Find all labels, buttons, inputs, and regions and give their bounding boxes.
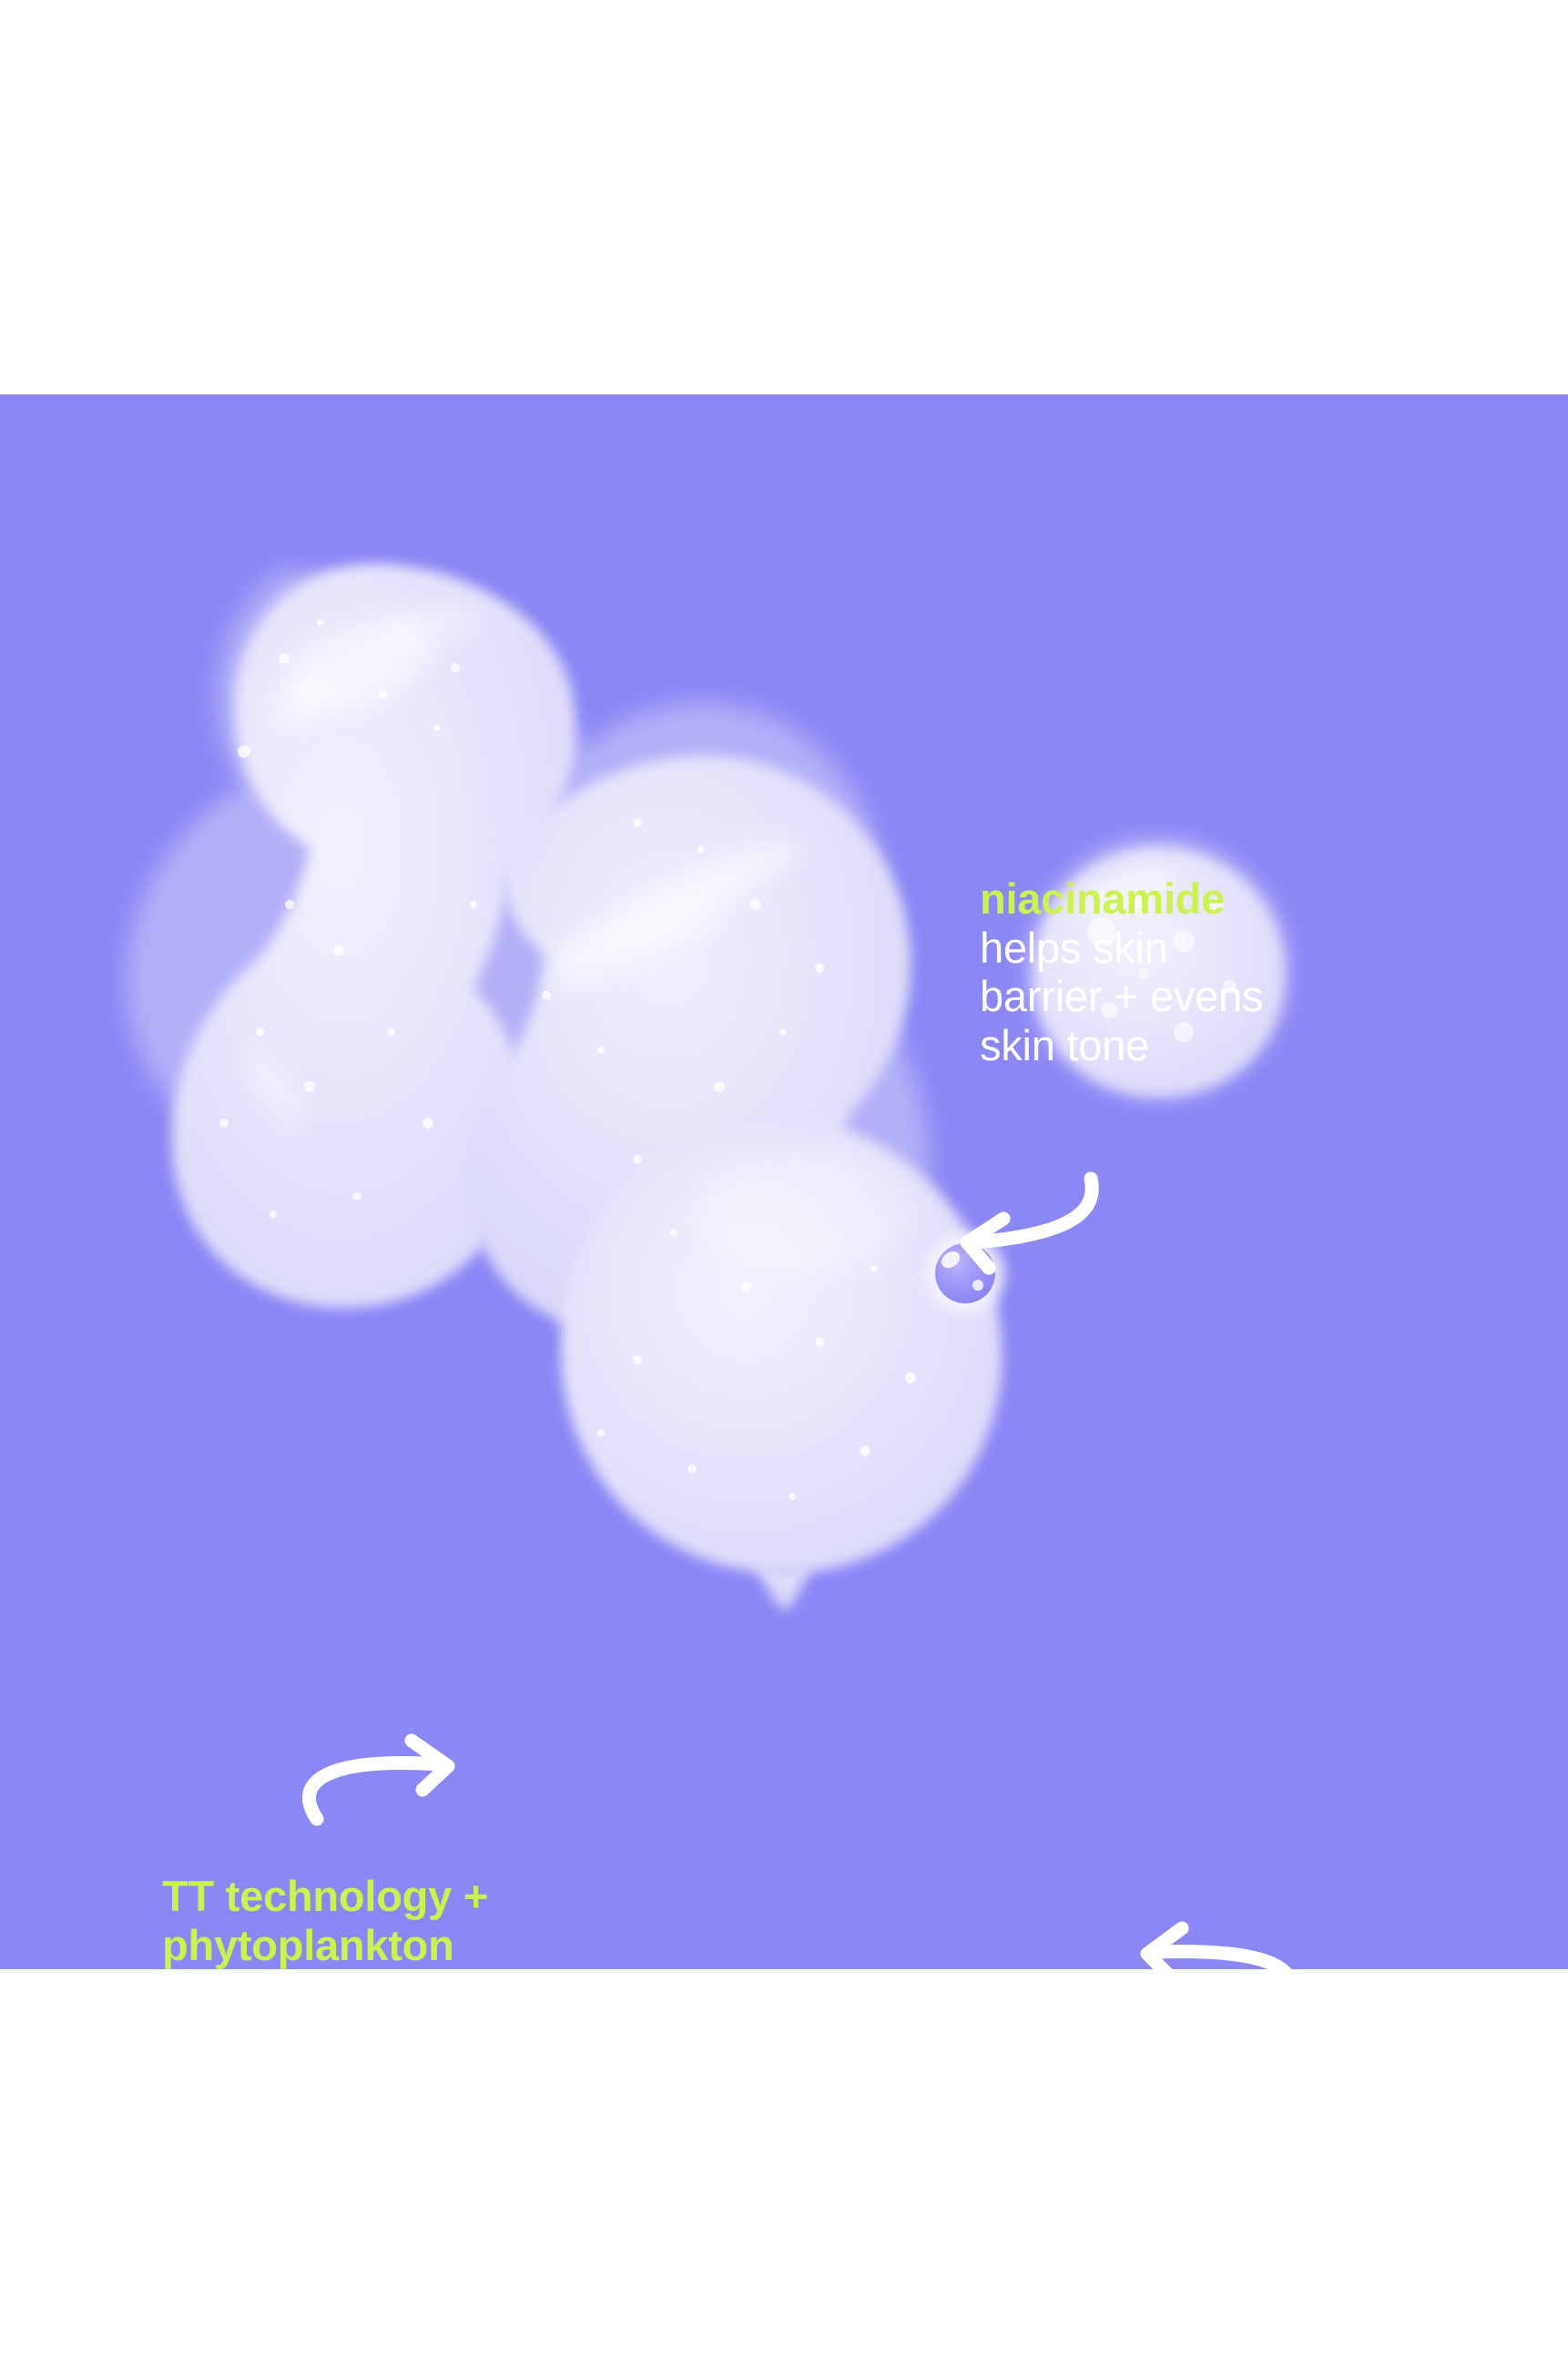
curved-arrow-left-icon bbox=[1118, 1905, 1319, 1969]
callout-niacinamide-line-2: barrier + evens bbox=[980, 972, 1408, 1021]
callout-niacinamide-line-3: skin tone bbox=[980, 1021, 1408, 1070]
callout-niacinamide: niacinamide helps skin barrier + evens s… bbox=[980, 874, 1408, 1069]
callout-tt-title-line-1: TT technology + bbox=[162, 1872, 636, 1921]
callout-tt-technology: TT technology + phytoplankton extract pr… bbox=[162, 1872, 636, 1969]
curved-arrow-left-icon bbox=[929, 1164, 1166, 1301]
callout-niacinamide-title: niacinamide bbox=[980, 874, 1408, 924]
product-image-panel: niacinamide helps skin barrier + evens s… bbox=[0, 394, 1568, 1969]
callout-tt-title-line-2: phytoplankton bbox=[162, 1921, 636, 1969]
gel-swatch-artwork bbox=[0, 394, 1568, 1969]
curved-arrow-right-icon bbox=[273, 1713, 501, 1841]
callout-niacinamide-line-1: helps skin bbox=[980, 924, 1408, 973]
